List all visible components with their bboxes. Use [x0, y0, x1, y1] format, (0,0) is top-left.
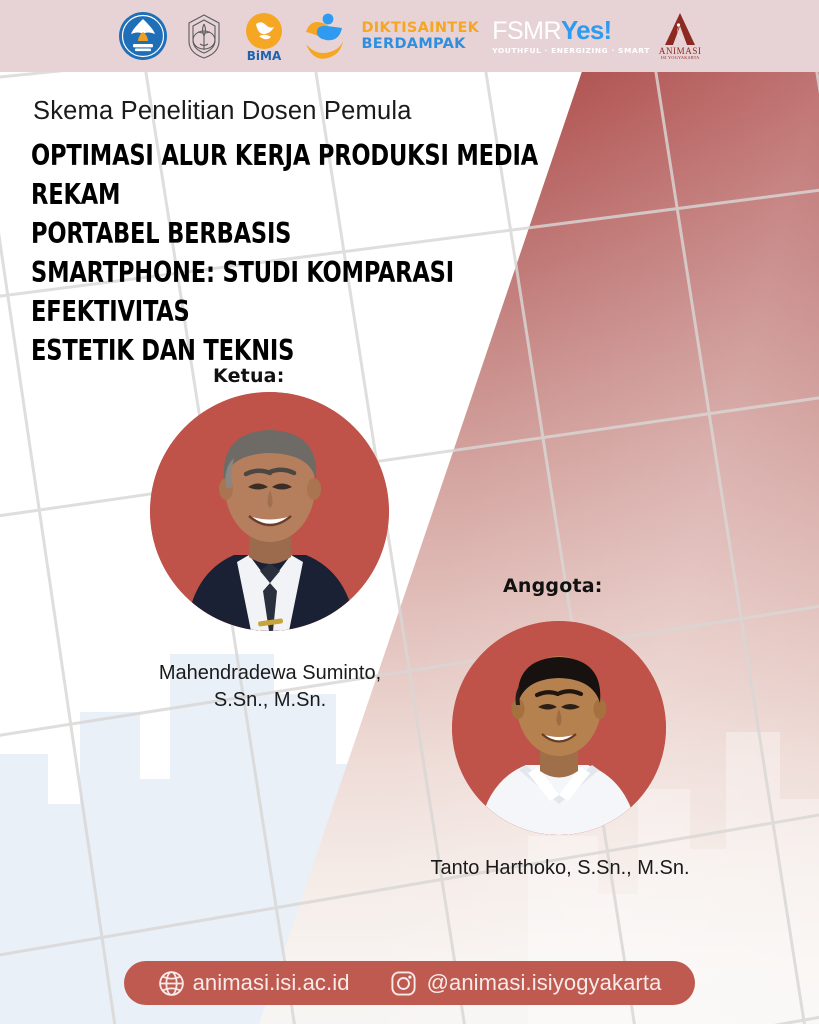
avatar-ketua	[150, 392, 389, 631]
svg-text:BiMA: BiMA	[247, 49, 282, 62]
person-name-ketua: Mahendradewa Suminto, S.Sn., M.Sn.	[84, 660, 456, 713]
fsmr-emphasis: Yes!	[561, 17, 611, 43]
animasi-sub-wordmark: ISI YOGYAKARTA	[661, 56, 700, 60]
contact-footer-pill: animasi.isi.ac.id @animasi.isiyogyakarta	[124, 961, 695, 1005]
website-text: animasi.isi.ac.id	[193, 970, 350, 996]
portrait-anggota	[452, 621, 666, 835]
poster-root: BiMA DIKTISAINTEK BERDAMPAK FSMR Yes! YO…	[0, 0, 819, 1024]
isi-yogyakarta-logo	[178, 10, 230, 62]
role-label-ketua: Ketua:	[213, 365, 285, 387]
fsmr-tagline: YOUTHFUL · ENERGIZING · SMART	[492, 47, 650, 54]
website-contact[interactable]: animasi.isi.ac.id	[158, 970, 350, 997]
poster-content: Skema Penelitian Dosen Pemula OPTIMASI A…	[0, 0, 819, 1024]
scheme-label: Skema Penelitian Dosen Pemula	[33, 97, 412, 126]
instagram-text: @animasi.isiyogyakarta	[427, 970, 662, 996]
tut-wuri-handayani-logo	[117, 10, 169, 62]
avatar-anggota	[452, 621, 666, 835]
portrait-ketua	[150, 392, 389, 631]
diktisaintek-wordmark: DIKTISAINTEK BERDAMPAK	[361, 21, 479, 52]
fsmr-prefix: FSMR	[492, 19, 561, 44]
globe-icon	[158, 970, 185, 997]
diktisaintek-line1: DIKTISAINTEK	[361, 21, 479, 36]
diktisaintek-mark-icon	[298, 10, 352, 62]
role-label-anggota: Anggota:	[503, 575, 603, 597]
top-logo-band: BiMA DIKTISAINTEK BERDAMPAK FSMR Yes! YO…	[0, 0, 819, 72]
instagram-icon	[390, 970, 417, 997]
page-title: OPTIMASI ALUR KERJA PRODUKSI MEDIA REKAM…	[31, 136, 559, 370]
fsmr-yes-wordmark: FSMR Yes! YOUTHFUL · ENERGIZING · SMART	[492, 17, 650, 54]
instagram-contact[interactable]: @animasi.isiyogyakarta	[390, 970, 662, 997]
person-name-anggota: Tanto Harthoko, S.Sn., M.Sn.	[395, 855, 725, 882]
bima-logo: BiMA	[239, 10, 289, 62]
animasi-a-icon	[664, 12, 696, 46]
diktisaintek-line2: BERDAMPAK	[361, 37, 479, 52]
animasi-isi-logo: ANIMASI ISI YOGYAKARTA	[659, 12, 702, 60]
